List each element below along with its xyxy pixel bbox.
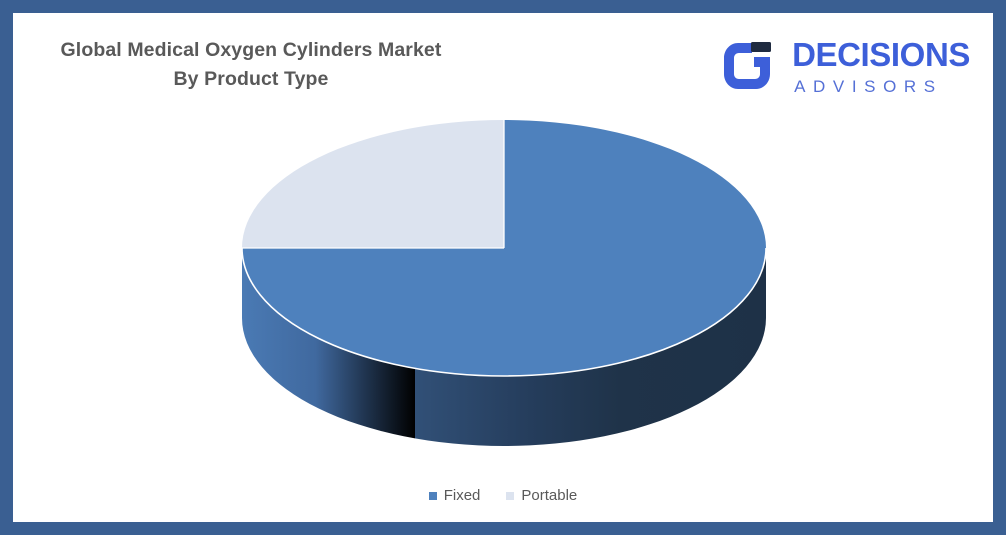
logo-glyph-icon (718, 35, 780, 97)
legend-swatch-fixed (429, 492, 437, 500)
legend-label-fixed: Fixed (444, 487, 481, 504)
legend-item-portable[interactable]: Portable (506, 487, 577, 504)
legend-swatch-portable (506, 492, 514, 500)
chart-legend: Fixed Portable (0, 487, 1006, 504)
chart-title: Global Medical Oxygen Cylinders Market B… (26, 36, 476, 94)
chart-canvas: Global Medical Oxygen Cylinders Market B… (0, 0, 1006, 535)
logo-wordmark: DECISIONS ADVISORS (792, 38, 970, 95)
logo-name-sub: ADVISORS (794, 78, 970, 95)
legend-item-fixed[interactable]: Fixed (429, 487, 481, 504)
logo-mark-icon (718, 35, 780, 97)
logo-name-main: DECISIONS (792, 38, 970, 71)
brand-logo: DECISIONS ADVISORS (718, 30, 970, 102)
legend-label-portable: Portable (521, 487, 577, 504)
